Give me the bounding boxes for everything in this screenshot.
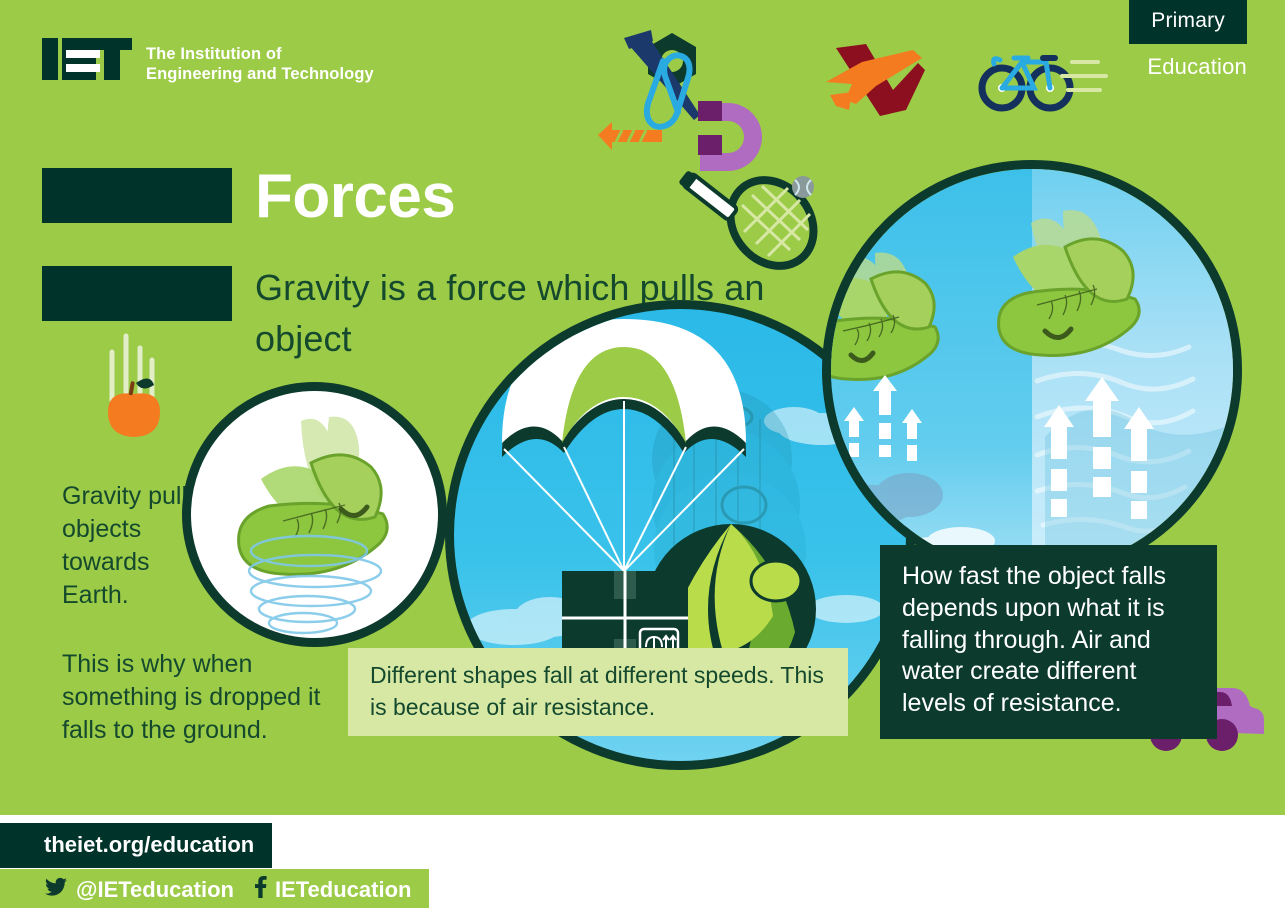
bicycle-icon [982, 55, 1106, 108]
poster-footer: theiet.org/education @IETeducation IETed… [0, 815, 1285, 908]
title-accent-block-bottom [42, 266, 232, 321]
callout-air-resistance: Different shapes fall at different speed… [348, 648, 848, 736]
magnet-icon [698, 101, 762, 171]
leaf-air [831, 253, 938, 380]
body-paragraph-gravity: Gravity pulls objects towards Earth. [62, 480, 202, 612]
footer-url[interactable]: theiet.org/education [0, 823, 272, 868]
resistance-arrows-air [844, 375, 922, 461]
twitter-icon [44, 877, 68, 903]
airplane-icon [826, 44, 925, 116]
poster-canvas: The Institution of Engineering and Techn… [0, 0, 1285, 815]
education-label: Education [1147, 54, 1247, 80]
tennis-ball-icon [792, 176, 814, 198]
callout-air-resistance-text: Different shapes fall at different speed… [370, 660, 826, 723]
title-accent-block-top [42, 168, 232, 223]
callout-resistance-levels-text: How fast the object falls depends upon w… [902, 561, 1195, 720]
primary-badge: Primary [1129, 0, 1247, 44]
facebook-handle[interactable]: IETeducation [275, 877, 412, 903]
body-paragraph-dropped: This is why when something is dropped it… [62, 648, 342, 747]
iet-logo: The Institution of Engineering and Techn… [42, 38, 374, 84]
iet-logo-mark [42, 38, 132, 80]
poster-root: The Institution of Engineering and Techn… [0, 0, 1285, 908]
facebook-icon [254, 876, 267, 904]
iet-logo-text: The Institution of Engineering and Techn… [146, 38, 374, 84]
twitter-handle[interactable]: @IETeducation [76, 877, 234, 903]
air-water-graphic [831, 169, 1235, 573]
footer-social-bar: @IETeducation IETeducation [0, 869, 429, 908]
callout-resistance-levels: How fast the object falls depends upon w… [880, 545, 1217, 739]
air-vs-water-resistance-illustration [822, 160, 1242, 580]
leaf-water [999, 210, 1140, 355]
falling-leaf-illustration [182, 382, 447, 647]
falling-apple-icon [108, 336, 160, 437]
leaf-ripple-graphic [191, 391, 441, 641]
page-title: Forces [255, 166, 455, 228]
